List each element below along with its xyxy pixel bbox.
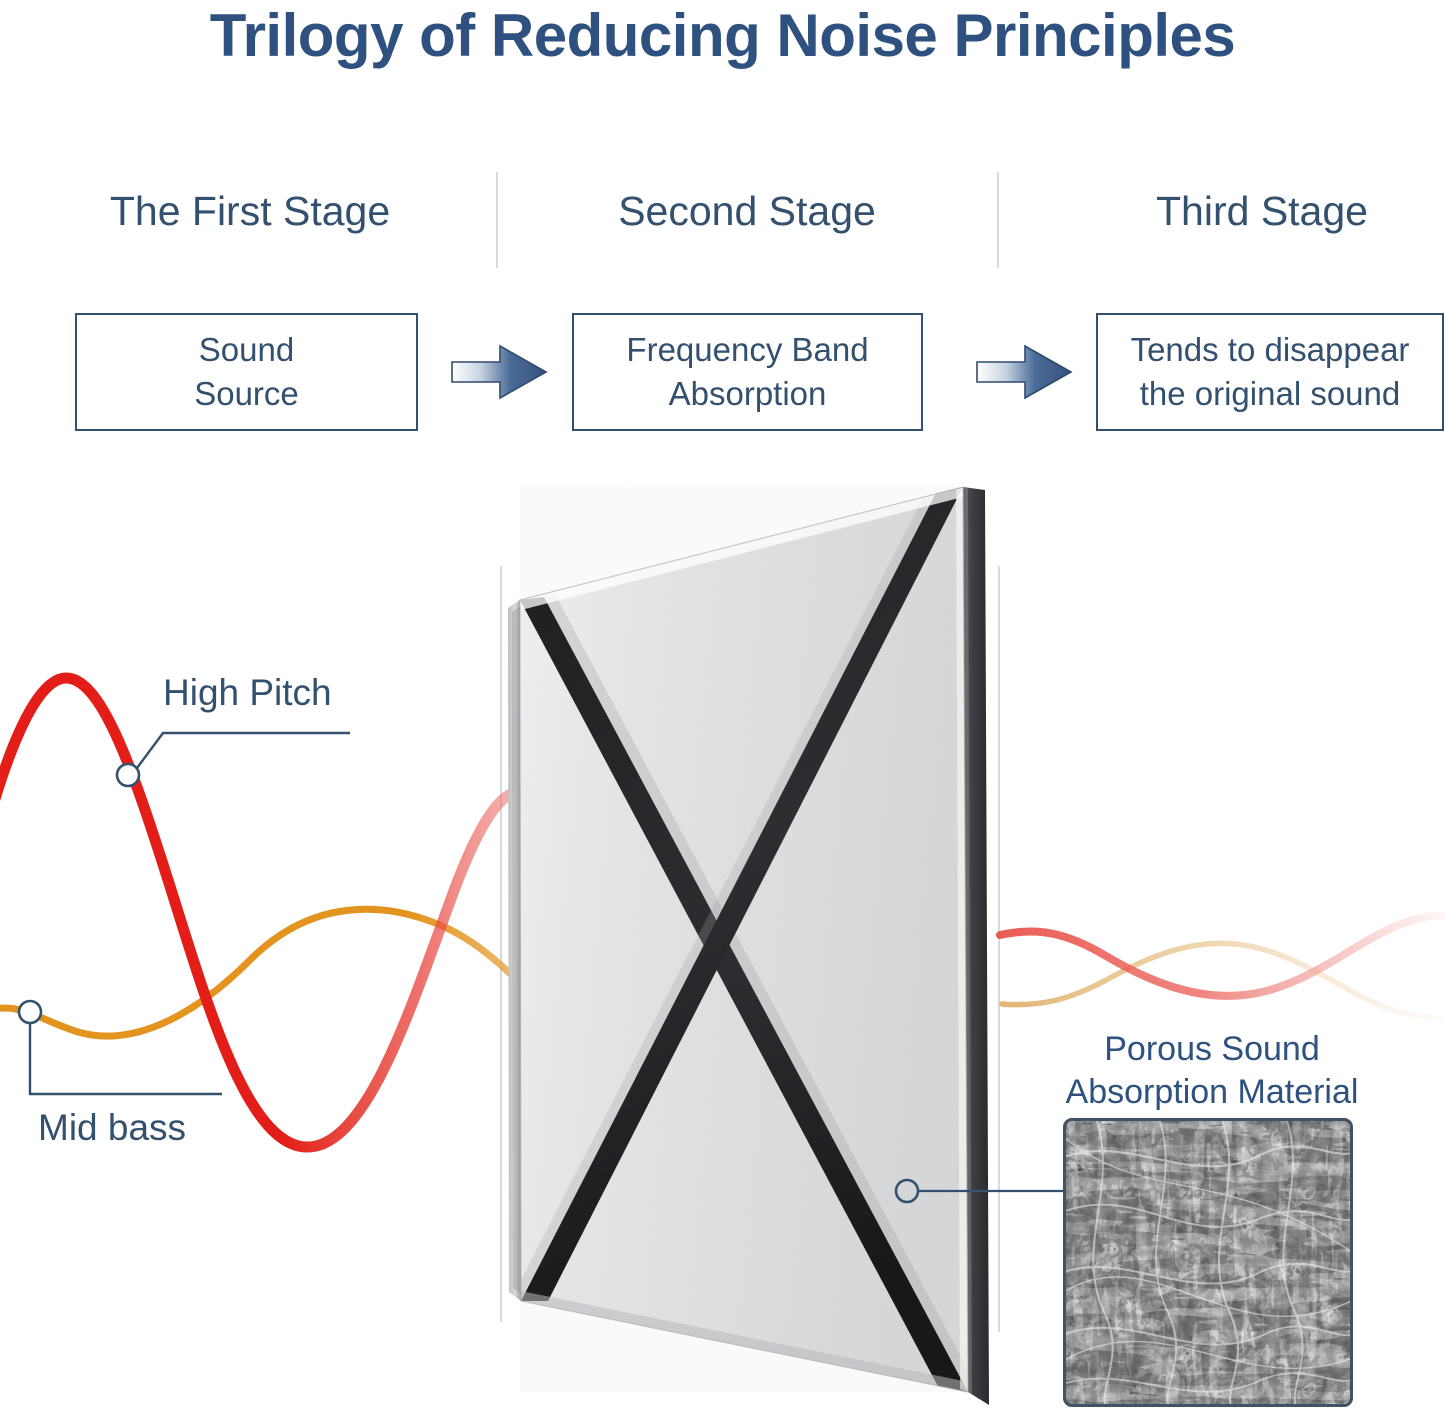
texture-layer-4	[1066, 1121, 1350, 1404]
infographic-canvas: Trilogy of Reducing Noise Principles The…	[0, 0, 1445, 1412]
callout-label-porous-material: Porous Sound Absorption Material	[1027, 1028, 1397, 1114]
porous-label-line-2: Absorption Material	[1066, 1073, 1359, 1111]
porous-fiber-texture-svg	[1066, 1121, 1350, 1404]
callout-label-high-pitch: High Pitch	[163, 672, 332, 714]
porous-label-line-1: Porous Sound	[1104, 1030, 1320, 1068]
callout-label-mid-bass: Mid bass	[38, 1107, 186, 1149]
porous-fiber-texture-inset	[1063, 1118, 1353, 1407]
